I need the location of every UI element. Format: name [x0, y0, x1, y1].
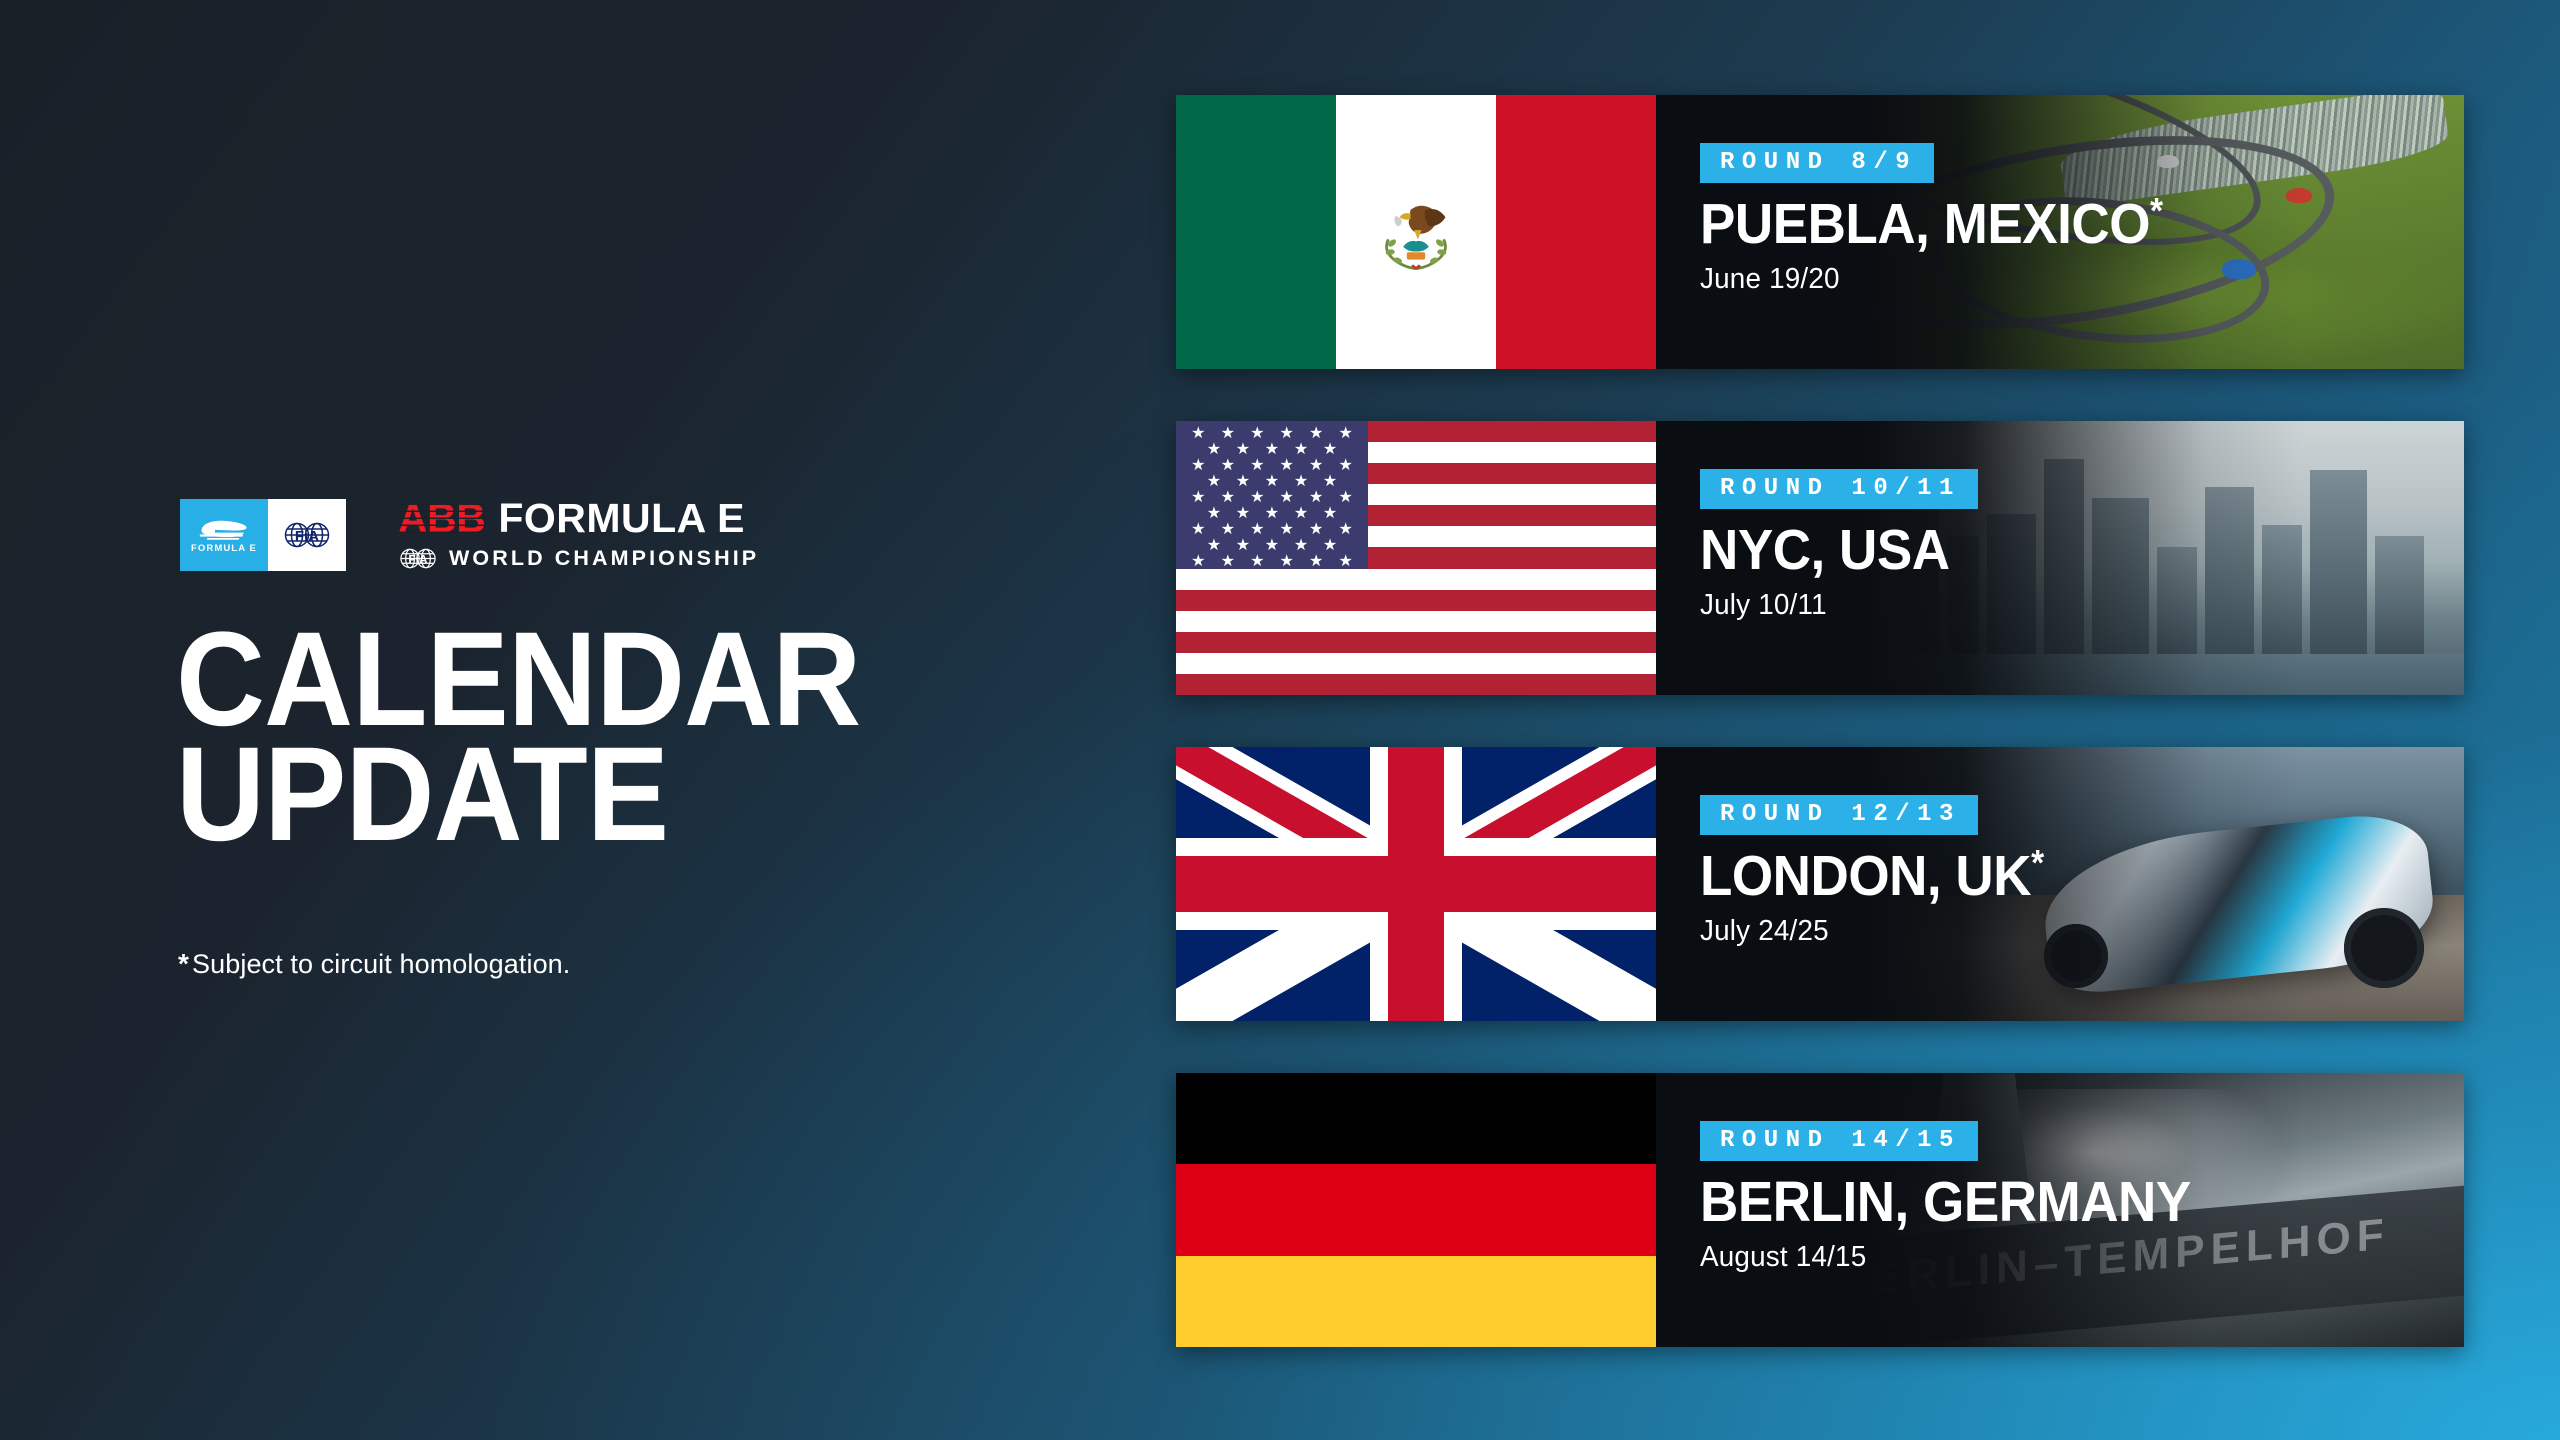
race-info-puebla: ROUND 8/9 PUEBLA, MEXICO* June 19/20 [1656, 95, 2464, 369]
abb-logo-text: ABB [398, 498, 485, 539]
round-badge: ROUND 14/15 [1700, 1121, 1978, 1161]
world-championship-text: WORLD CHAMPIONSHIP [449, 548, 759, 570]
race-card-puebla[interactable]: ROUND 8/9 PUEBLA, MEXICO* June 19/20 [1176, 95, 2464, 369]
flag-stripe-white [1336, 95, 1496, 369]
flag-star-canton: ★★★★★★ ★★★★★ ★★★★★★ ★★★★★ ★★★★★★ ★★★★★ ★… [1176, 421, 1368, 569]
fia-globe-icon: FiA [282, 518, 332, 552]
race-city-name: NYC, USA [1700, 522, 1958, 579]
formula-e-wordmark: FORMULA E [191, 544, 257, 554]
usa-flag: ★★★★★★ ★★★★★ ★★★★★★ ★★★★★ ★★★★★★ ★★★★★ ★… [1176, 421, 1656, 695]
union-jack-icon [1176, 747, 1656, 1021]
formula-e-title-text: FORMULA E [498, 498, 745, 539]
race-date: June 19/20 [1700, 263, 2177, 296]
world-championship-line: FiA WORLD CHAMPIONSHIP [398, 545, 759, 572]
race-city-name: BERLIN, GERMANY [1700, 1174, 2191, 1231]
city-asterisk: * [2150, 190, 2163, 231]
race-date: July 10/11 [1700, 589, 1967, 622]
abb-formula-e-line: ABB FORMULA E [398, 498, 759, 539]
flag-stripe-black [1176, 1073, 1656, 1164]
footnote: *Subject to circuit homologation. [178, 948, 570, 980]
flag-stripe-green [1176, 95, 1336, 369]
race-card-nyc[interactable]: ★★★★★★ ★★★★★ ★★★★★★ ★★★★★ ★★★★★★ ★★★★★ ★… [1176, 421, 2464, 695]
headline-line-2: UPDATE [176, 737, 860, 852]
race-city-name: LONDON, UK* [1700, 848, 2044, 905]
round-badge: ROUND 12/13 [1700, 795, 1978, 835]
round-badge: ROUND 8/9 [1700, 143, 1934, 183]
race-info-nyc: ROUND 10/11 NYC, USA July 10/11 [1656, 421, 2464, 695]
page-title: CALENDAR UPDATE [176, 622, 860, 852]
city-asterisk: * [2031, 842, 2044, 883]
flag-stripe-red [1496, 95, 1656, 369]
footnote-text: Subject to circuit homologation. [192, 949, 570, 979]
germany-flag [1176, 1073, 1656, 1347]
fia-globe-icon: FiA [398, 545, 438, 572]
mexico-coat-of-arms-icon [1370, 186, 1462, 278]
formula-e-e-mark-icon [197, 517, 251, 541]
race-card-berlin[interactable]: BERLIN–TEMPELHOF ROUND 14/15 BERLIN, GER… [1176, 1073, 2464, 1347]
uk-flag [1176, 747, 1656, 1021]
svg-text:FiA: FiA [408, 552, 428, 566]
flag-stripe-gold [1176, 1256, 1656, 1347]
mexico-flag [1176, 95, 1656, 369]
left-panel: FORMULA E FiA [0, 0, 1120, 1440]
flag-stripe-red [1176, 1164, 1656, 1255]
race-city-name: PUEBLA, MEXICO* [1700, 196, 2163, 253]
race-info-london: ROUND 12/13 LONDON, UK* July 24/25 [1656, 747, 2464, 1021]
brand-lockup: FORMULA E FiA [180, 498, 759, 572]
race-card-list: ROUND 8/9 PUEBLA, MEXICO* June 19/20 [1176, 95, 2464, 1399]
calendar-update-graphic: FORMULA E FiA [0, 0, 2560, 1440]
fia-logo-block: FiA [268, 499, 346, 571]
round-badge: ROUND 10/11 [1700, 469, 1978, 509]
formula-e-logo-block: FORMULA E [180, 499, 268, 571]
championship-wordmark: ABB FORMULA E FiA [398, 498, 759, 572]
svg-text:FiA: FiA [295, 528, 319, 545]
race-card-london[interactable]: ROUND 12/13 LONDON, UK* July 24/25 [1176, 747, 2464, 1021]
race-date: August 14/15 [1700, 1241, 2207, 1274]
footnote-asterisk: * [178, 948, 189, 979]
formula-e-fia-logo: FORMULA E FiA [180, 499, 346, 571]
race-date: July 24/25 [1700, 915, 2055, 948]
race-info-berlin: BERLIN–TEMPELHOF ROUND 14/15 BERLIN, GER… [1656, 1073, 2464, 1347]
